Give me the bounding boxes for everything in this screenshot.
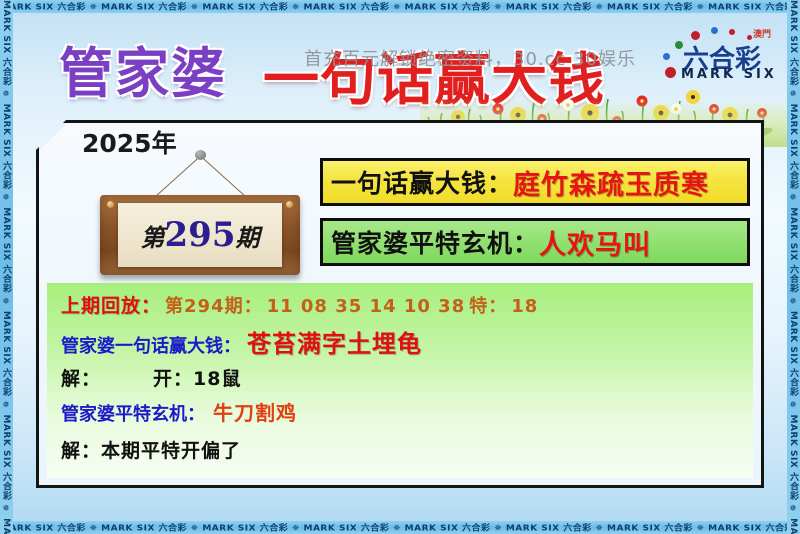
issue-number-group: 第295期	[141, 215, 260, 255]
watermark-text: 首充百元解锁绝密资料，30.cc 30娱乐	[304, 45, 636, 71]
border-strip-bottom: MARK SIX 六合彩 ✵ MARK SIX 六合彩 ✵ MARK SIX 六…	[0, 521, 800, 534]
row-phrase: 管家婆一句话赢大钱： 苍苔满字土埋龟	[61, 324, 753, 359]
playback-special-label: 特：	[469, 292, 507, 318]
issue-number: 295	[165, 215, 236, 255]
sign-rope-right	[200, 156, 245, 197]
border-text-top: MARK SIX 六合彩 ✵ MARK SIX 六合彩 ✵ MARK SIX 六…	[0, 1, 800, 13]
sign-paper: 第295期	[118, 203, 282, 267]
playback-numbers: 11 08 35 14 10 38	[267, 296, 466, 317]
banner-phrase-win-label: 一句话赢大钱：	[331, 164, 513, 200]
sign-pin-left-icon	[107, 201, 114, 208]
sign-rope-left	[156, 156, 201, 197]
pingte-value: 牛刀割鸡	[213, 397, 297, 426]
issue-prefix: 第	[141, 223, 165, 252]
pingte-answer-label: 解：本期平特开偏了	[61, 436, 241, 463]
row-pingte-answer: 解：本期平特开偏了	[61, 436, 753, 463]
phrase-answer-open-value: 18鼠	[193, 364, 241, 391]
border-strip-top: MARK SIX 六合彩 ✵ MARK SIX 六合彩 ✵ MARK SIX 六…	[0, 0, 800, 13]
phrase-answer-open-label: 开：	[153, 364, 193, 391]
logo-dot-green	[675, 41, 683, 49]
border-text-left: MARK SIX 六合彩 ✵ MARK SIX 六合彩 ✵ MARK SIX 六…	[0, 0, 13, 534]
row-last-draw-playback: 上期回放： 第294期： 11 08 35 14 10 38 特： 18	[61, 291, 753, 318]
logo-dot-blue-2	[663, 53, 670, 60]
banner-pingte-secret-value: 人欢马叫	[539, 223, 651, 262]
logo-dot-blue-1	[711, 27, 718, 34]
playback-issue: 第294期：	[165, 292, 263, 318]
issue-suffix: 期	[235, 223, 259, 252]
phrase-answer-label: 解：	[61, 364, 101, 391]
sign-nail-icon	[195, 150, 206, 160]
sign-board: 第295期	[100, 195, 300, 275]
banner-pingte-secret-label: 管家婆平特玄机：	[331, 224, 539, 260]
border-text-right: MARK SIX 六合彩 ✵ MARK SIX 六合彩 ✵ MARK SIX 六…	[787, 0, 800, 534]
row-phrase-answer: 解： 开： 18鼠	[61, 364, 753, 391]
sign-pin-right-icon	[286, 201, 293, 208]
phrase-label: 管家婆一句话赢大钱：	[61, 332, 241, 358]
playback-special-number: 18	[511, 296, 538, 317]
row-pingte: 管家婆平特玄机： 牛刀割鸡	[61, 397, 753, 426]
border-strip-right: MARK SIX 六合彩 ✵ MARK SIX 六合彩 ✵ MARK SIX 六…	[787, 0, 800, 534]
page-title-brand: 管家婆	[59, 29, 227, 108]
hanging-sign: 第295期	[95, 150, 305, 280]
border-strip-left: MARK SIX 六合彩 ✵ MARK SIX 六合彩 ✵ MARK SIX 六…	[0, 0, 13, 534]
banner-pingte-secret: 管家婆平特玄机： 人欢马叫	[320, 218, 750, 266]
poster-root: MARK SIX 六合彩 ✵ MARK SIX 六合彩 ✵ MARK SIX 六…	[0, 0, 800, 534]
playback-label: 上期回放：	[61, 291, 161, 318]
banner-phrase-win: 一句话赢大钱： 庭竹森疏玉质寒	[320, 158, 750, 206]
logo-dot-red-2	[729, 29, 735, 35]
pingte-label: 管家婆平特玄机：	[61, 400, 205, 426]
border-text-bottom: MARK SIX 六合彩 ✵ MARK SIX 六合彩 ✵ MARK SIX 六…	[0, 522, 800, 534]
phrase-value: 苍苔满字土埋龟	[247, 324, 422, 359]
banner-phrase-win-value: 庭竹森疏玉质寒	[513, 163, 709, 202]
results-content-block: 上期回放： 第294期： 11 08 35 14 10 38 特： 18 管家婆…	[47, 283, 753, 478]
